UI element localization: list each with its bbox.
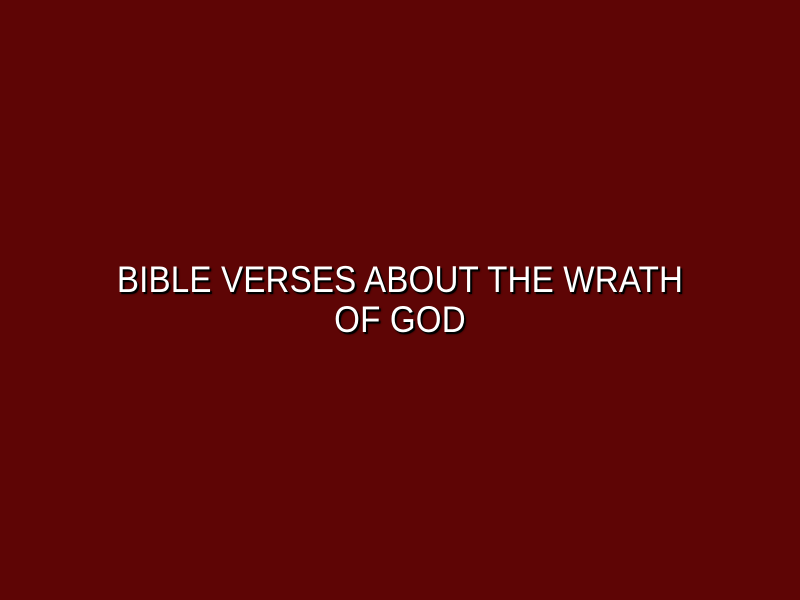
banner-title: BIBLE VERSES ABOUT THE WRATH OF GOD	[114, 260, 687, 340]
title-block: BIBLE VERSES ABOUT THE WRATH OF GOD	[0, 0, 800, 600]
featured-image-banner: BIBLE VERSES ABOUT THE WRATH OF GOD	[0, 0, 800, 600]
